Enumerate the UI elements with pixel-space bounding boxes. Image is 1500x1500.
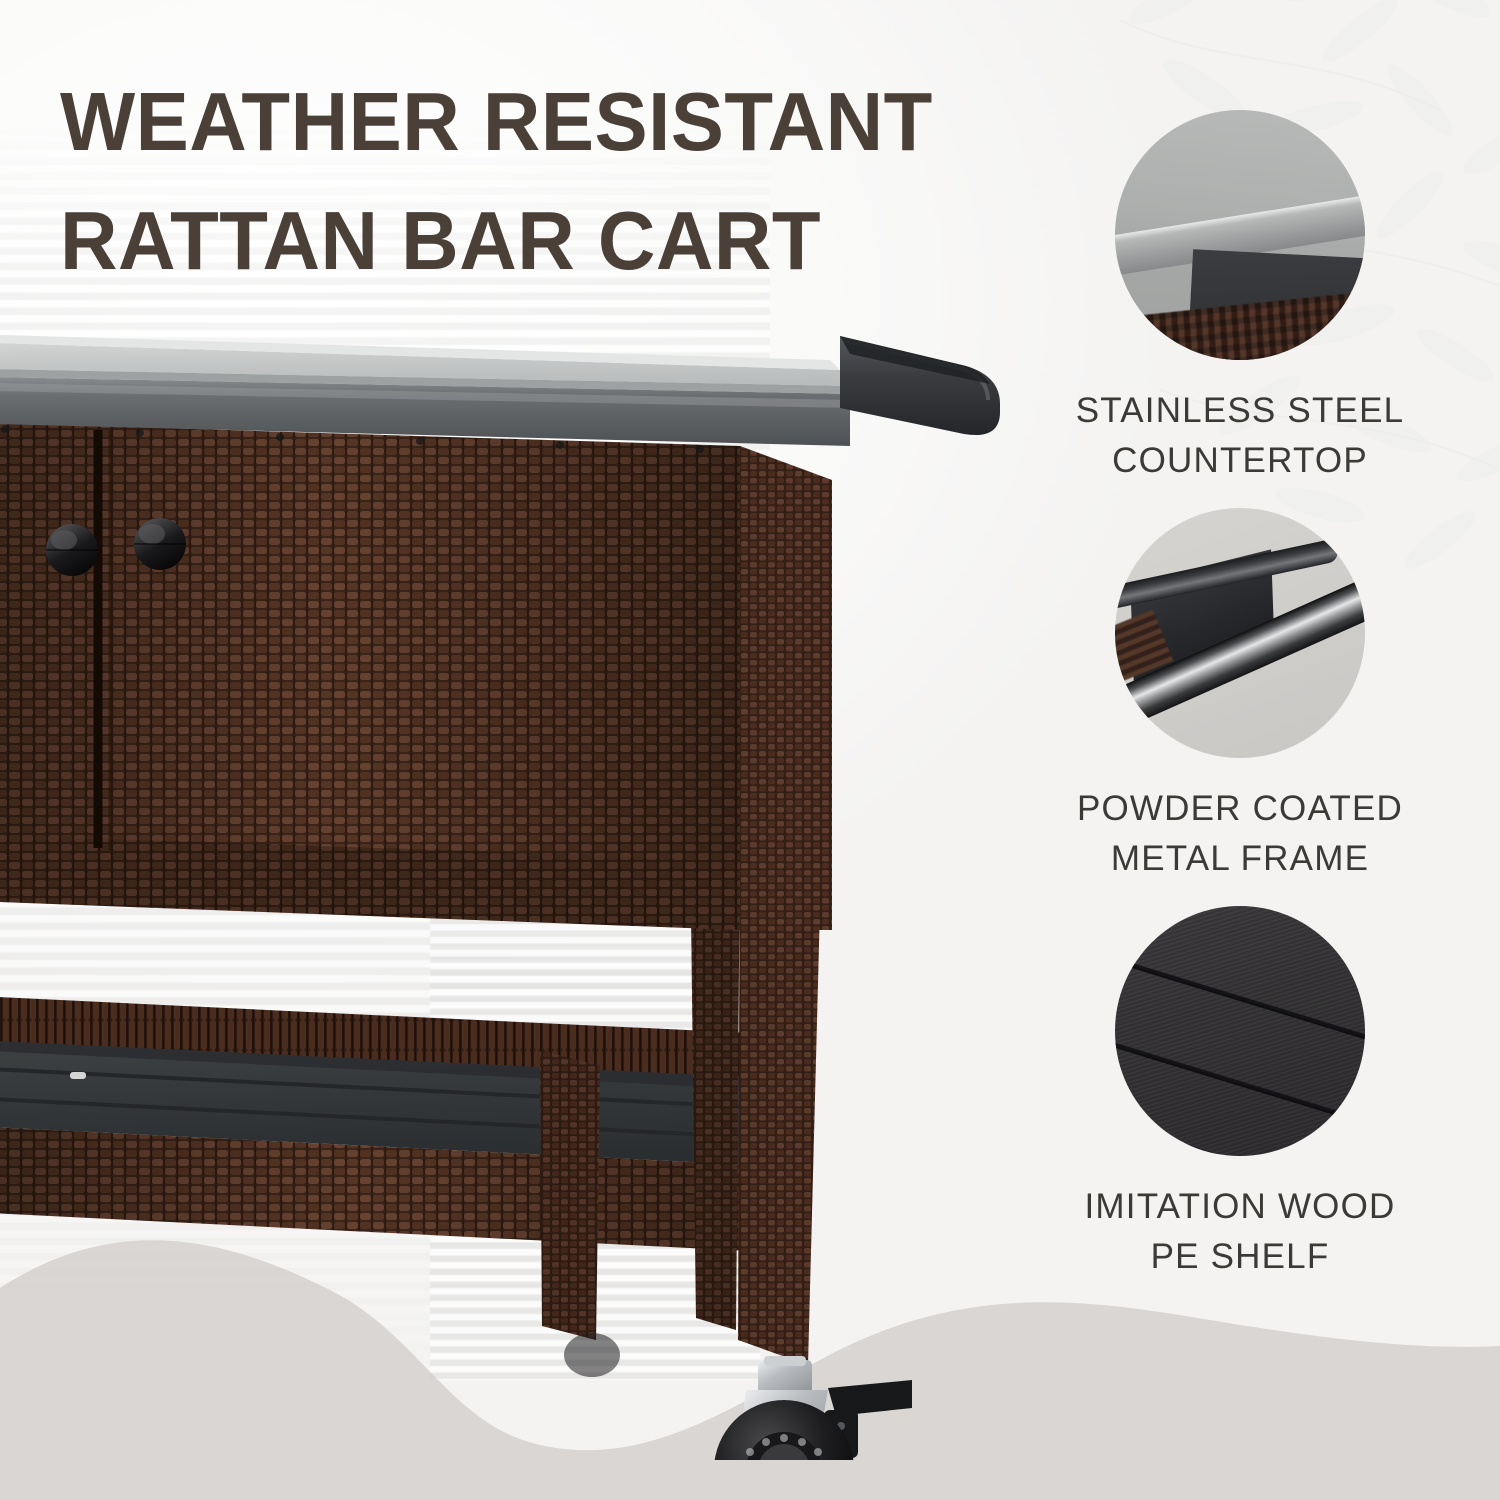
product-photo-bar-cart [0,330,1000,1460]
product-part-push-handle-rail [840,336,1000,435]
feature-label-imitation-wood-pe-shelf: IMITATION WOOD PE SHELF [1040,1182,1440,1282]
countertop-corner-closeup-image [1115,110,1365,360]
feature-label-stainless-steel-countertop: STAINLESS STEEL COUNTERTOP [1040,386,1440,486]
pe-shelf-plank-closeup-image [1115,906,1365,1156]
product-part-door-knob-right [134,518,186,570]
product-part-caster-wheel [714,1356,912,1460]
feature-label-powder-coated-metal-frame: POWDER COATED METAL FRAME [1040,784,1440,884]
product-part-inner-leg [540,1050,600,1340]
page-title: WEATHER RESISTANT RATTAN BAR CART [60,62,1020,300]
product-part-cabinet-side-panel [740,446,832,930]
product-feature-graphic: WEATHER RESISTANT RATTAN BAR CART [0,0,1500,1500]
feature-imitation-wood-pe-shelf: IMITATION WOOD PE SHELF [1040,906,1440,1282]
feature-powder-coated-metal-frame: POWDER COATED METAL FRAME [1040,508,1440,884]
metal-frame-tube-closeup-image [1115,508,1365,758]
product-part-door-knob-left [46,524,98,576]
feature-list: STAINLESS STEEL COUNTERTOP POWDER COATED… [1040,110,1440,1282]
product-part-rear-caster [564,1333,620,1377]
feature-stainless-steel-countertop: STAINLESS STEEL COUNTERTOP [1040,110,1440,486]
